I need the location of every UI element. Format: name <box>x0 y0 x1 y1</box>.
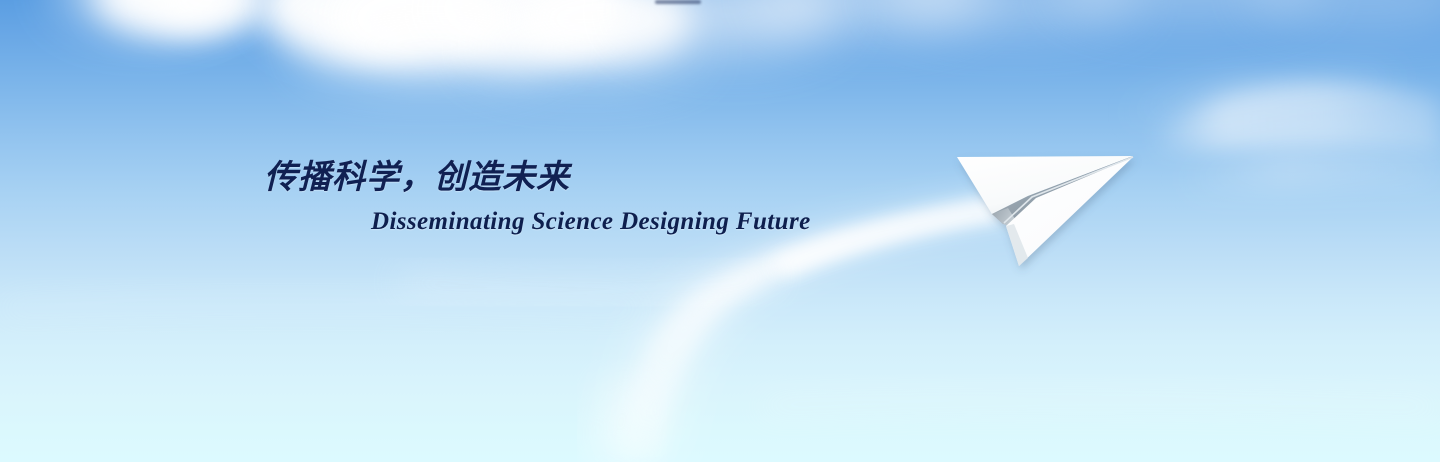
banner-subheadline-english: Disseminating Science Designing Future <box>371 208 811 236</box>
cloud-shape <box>150 0 270 32</box>
cloud-shape <box>420 0 630 64</box>
top-edge-mark <box>655 0 701 4</box>
cloud-shape <box>620 0 840 52</box>
cloud-shape <box>1250 0 1440 22</box>
cloud-shape <box>300 10 560 80</box>
cloud-shape <box>60 0 230 24</box>
cloud-shape <box>258 0 448 60</box>
cloud-shape <box>880 0 1140 30</box>
banner-headline-chinese: 传播科学，创造未来 <box>264 150 570 198</box>
cloud-shape <box>520 0 690 62</box>
cloud-shape <box>760 0 990 32</box>
cloud-shape <box>330 0 510 66</box>
sky-banner: 传播科学，创造未来 Disseminating Science Designin… <box>0 0 1440 462</box>
cloud-shape <box>470 16 700 80</box>
cloud-shape <box>96 0 246 36</box>
cloud-shape <box>1060 0 1320 20</box>
